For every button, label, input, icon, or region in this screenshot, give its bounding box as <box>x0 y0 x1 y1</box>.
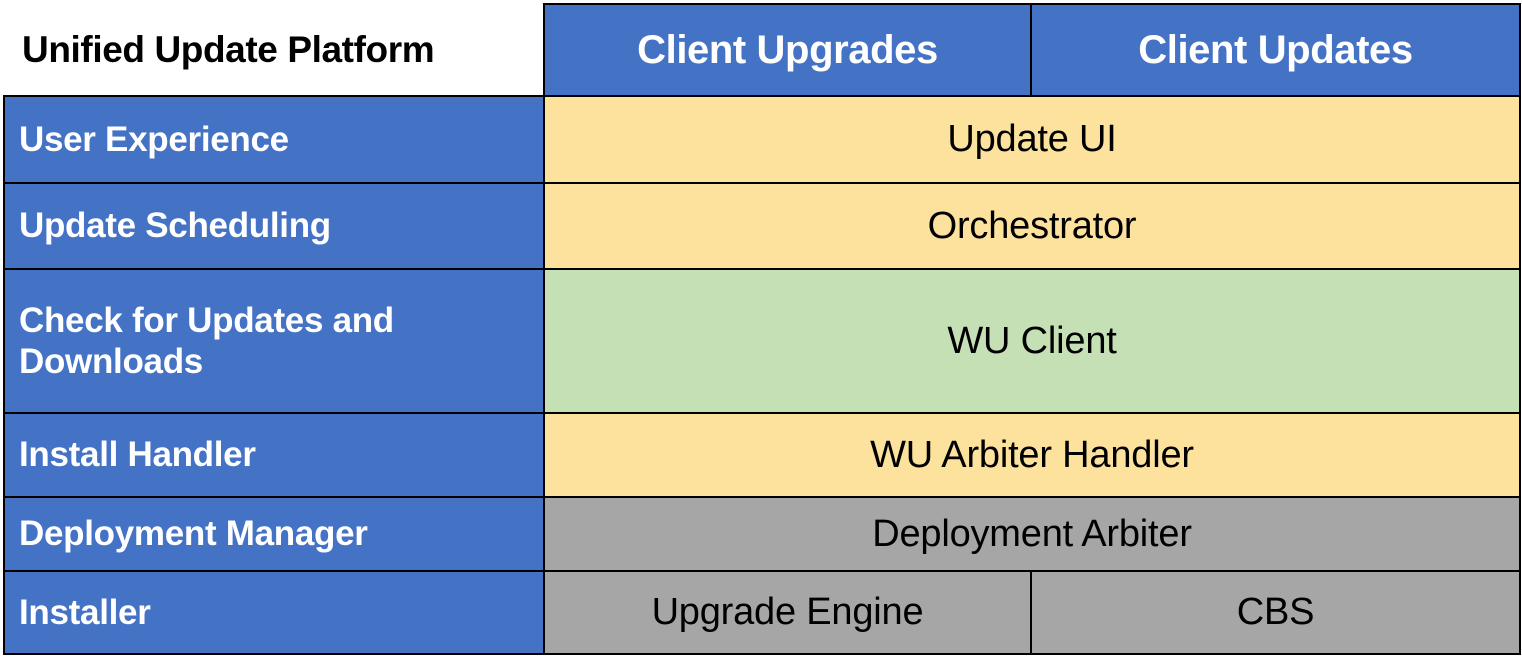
column-header-client-upgrades: Client Upgrades <box>544 4 1031 96</box>
component-cbs: CBS <box>1031 571 1520 654</box>
table-row: Installer Upgrade Engine CBS <box>4 571 1520 654</box>
table-row: Deployment Manager Deployment Arbiter <box>4 497 1520 571</box>
component-deployment-arbiter: Deployment Arbiter <box>544 497 1520 571</box>
column-header-client-updates: Client Updates <box>1031 4 1520 96</box>
table-row: Update Scheduling Orchestrator <box>4 183 1520 269</box>
unified-update-platform-table: Unified Update Platform Client Upgrades … <box>3 3 1521 655</box>
row-label-update-scheduling: Update Scheduling <box>4 183 544 269</box>
component-wu-arbiter-handler: WU Arbiter Handler <box>544 413 1520 497</box>
component-wu-client: WU Client <box>544 269 1520 413</box>
row-label-installer: Installer <box>4 571 544 654</box>
row-label-install-handler: Install Handler <box>4 413 544 497</box>
table-header-row: Unified Update Platform Client Upgrades … <box>4 4 1520 96</box>
component-upgrade-engine: Upgrade Engine <box>544 571 1031 654</box>
table-row: User Experience Update UI <box>4 96 1520 183</box>
page-title: Unified Update Platform <box>4 4 544 96</box>
table-row: Install Handler WU Arbiter Handler <box>4 413 1520 497</box>
table-row: Check for Updates and Downloads WU Clien… <box>4 269 1520 413</box>
component-orchestrator: Orchestrator <box>544 183 1520 269</box>
row-label-user-experience: User Experience <box>4 96 544 183</box>
row-label-check-for-updates-and-downloads: Check for Updates and Downloads <box>4 269 544 413</box>
component-update-ui: Update UI <box>544 96 1520 183</box>
row-label-deployment-manager: Deployment Manager <box>4 497 544 571</box>
